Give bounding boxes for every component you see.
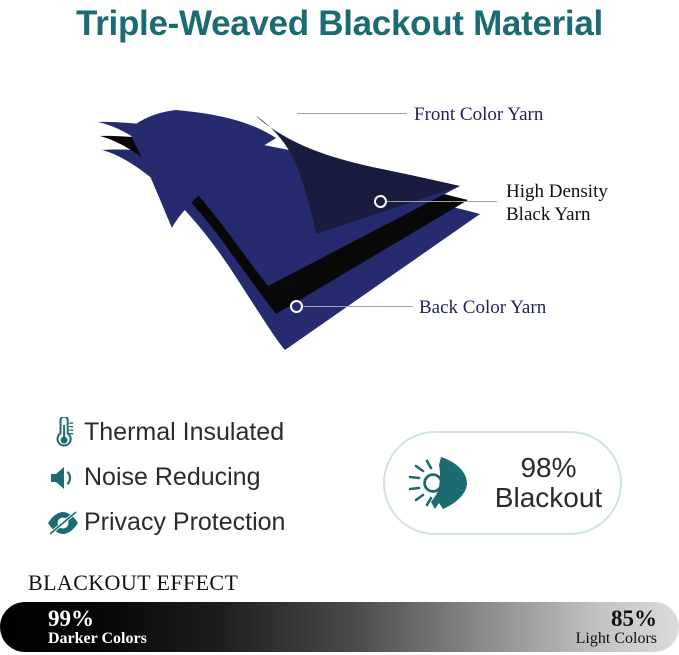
blackout-effect-left-group: 99% Darker Colors xyxy=(48,602,268,648)
blackout-badge: 98% Blackout xyxy=(383,431,622,535)
callout-marker-back xyxy=(290,300,303,313)
callout-marker-front xyxy=(284,107,297,120)
thermometer-icon xyxy=(42,417,84,449)
blackout-percent: 98% xyxy=(520,452,576,483)
callout-label-middle: High Density Black Yarn xyxy=(506,180,608,226)
feature-item-noise-reducing: Noise Reducing xyxy=(42,455,372,500)
callout-leader-back xyxy=(303,306,413,307)
feature-item-thermal-insulated: Thermal Insulated xyxy=(42,410,372,455)
callout-marker-middle xyxy=(374,195,387,208)
sun-blocked-icon xyxy=(399,451,485,515)
callout-label-middle-line1: High Density xyxy=(506,181,608,202)
callout-leader-middle xyxy=(387,201,497,202)
speaker-sound-icon xyxy=(42,464,84,492)
blackout-badge-text: 98% Blackout xyxy=(485,453,620,513)
feature-item-privacy-protection: Privacy Protection xyxy=(42,500,372,545)
feature-label-thermal-insulated: Thermal Insulated xyxy=(84,418,284,447)
blackout-effect-right-label: Light Colors xyxy=(417,631,657,648)
blackout-effect-left-label: Darker Colors xyxy=(48,631,268,648)
page-title: Triple-Weaved Blackout Material xyxy=(0,4,679,44)
blackout-word: Blackout xyxy=(495,482,602,513)
callout-leader-front xyxy=(297,113,407,114)
feature-label-noise-reducing: Noise Reducing xyxy=(84,463,261,492)
callout-label-back: Back Color Yarn xyxy=(419,296,546,319)
callout-label-front: Front Color Yarn xyxy=(414,103,543,126)
blackout-effect-right-group: 85% Light Colors xyxy=(417,602,657,648)
blackout-effect-left-percent: 99% xyxy=(48,607,268,631)
feature-label-privacy-protection: Privacy Protection xyxy=(84,508,285,537)
feature-list: Thermal Insulated Noise Reducing Privacy… xyxy=(42,410,372,545)
callout-label-middle-line2: Black Yarn xyxy=(506,204,590,225)
blackout-effect-title: BLACKOUT EFFECT xyxy=(28,570,238,596)
blackout-effect-right-percent: 85% xyxy=(417,607,657,631)
eye-slash-icon xyxy=(42,510,84,536)
